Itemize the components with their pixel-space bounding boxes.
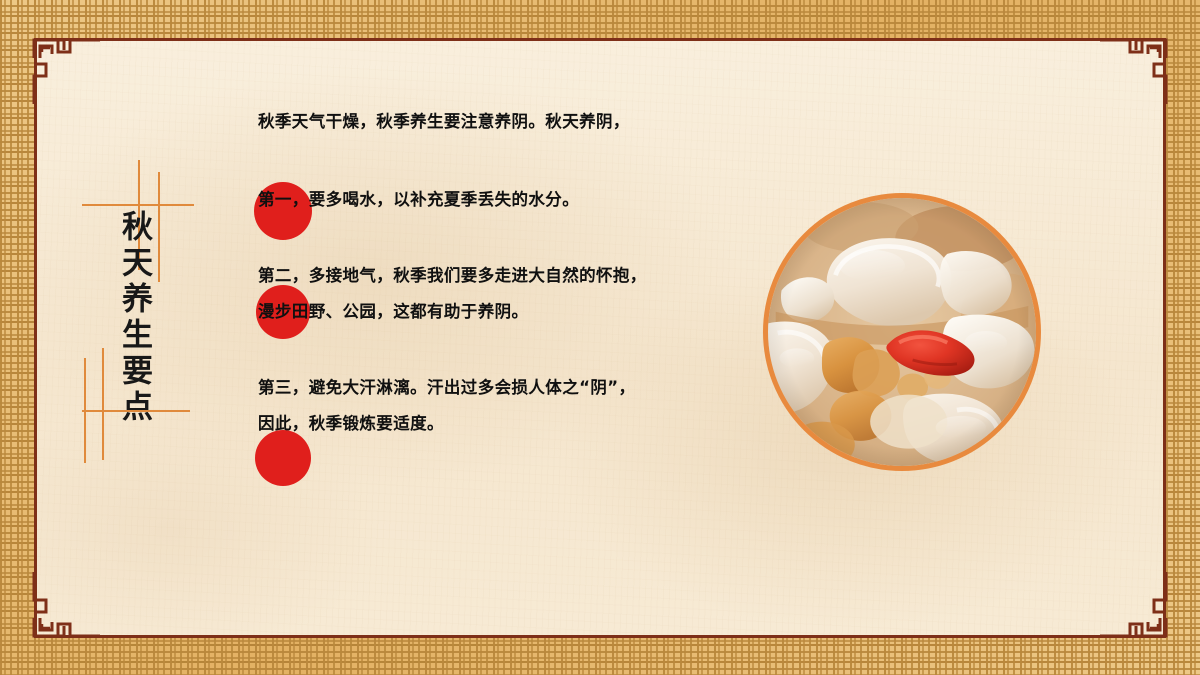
point-one-line-1: 第一，要多喝水，以补充夏季丢失的水分。 <box>258 182 758 218</box>
slide-root: 秋天养生要点 秋季天气干燥，秋季养生要注意养阴。秋天养阴， 第一，要多喝水，以补… <box>0 0 1200 675</box>
title-decoration-line-bottom-horizontal <box>82 410 190 412</box>
page-title: 秋天养生要点 <box>118 210 149 426</box>
vertical-title-block: 秋天养生要点 <box>82 160 202 460</box>
dessert-photo-circle <box>763 193 1041 471</box>
body-copy: 秋季天气干燥，秋季养生要注意养阴。秋天养阴， 第一，要多喝水，以补充夏季丢失的水… <box>258 104 758 442</box>
point-two: 第二，多接地气，秋季我们要多走进大自然的怀抱， 漫步田野、公园，这都有助于养阴。 <box>258 258 758 330</box>
point-two-line-2: 漫步田野、公园，这都有助于养阴。 <box>258 302 528 321</box>
title-decoration-line-top-horizontal <box>82 204 194 206</box>
title-decoration-line-top-vertical-2 <box>158 172 160 282</box>
dessert-photo-image <box>768 198 1036 466</box>
point-three: 第三，避免大汗淋漓。汗出过多会损人体之“阴”， 因此，秋季锻炼要适度。 <box>258 370 758 442</box>
point-three-line-2: 因此，秋季锻炼要适度。 <box>258 414 444 433</box>
point-two-line-1: 第二，多接地气，秋季我们要多走进大自然的怀抱， <box>258 266 647 285</box>
title-decoration-line-bottom-vertical-2 <box>102 348 104 460</box>
lead-paragraph: 秋季天气干燥，秋季养生要注意养阴。秋天养阴， <box>258 104 758 140</box>
point-three-line-1: 第三，避免大汗淋漓。汗出过多会损人体之“阴”， <box>258 378 635 397</box>
